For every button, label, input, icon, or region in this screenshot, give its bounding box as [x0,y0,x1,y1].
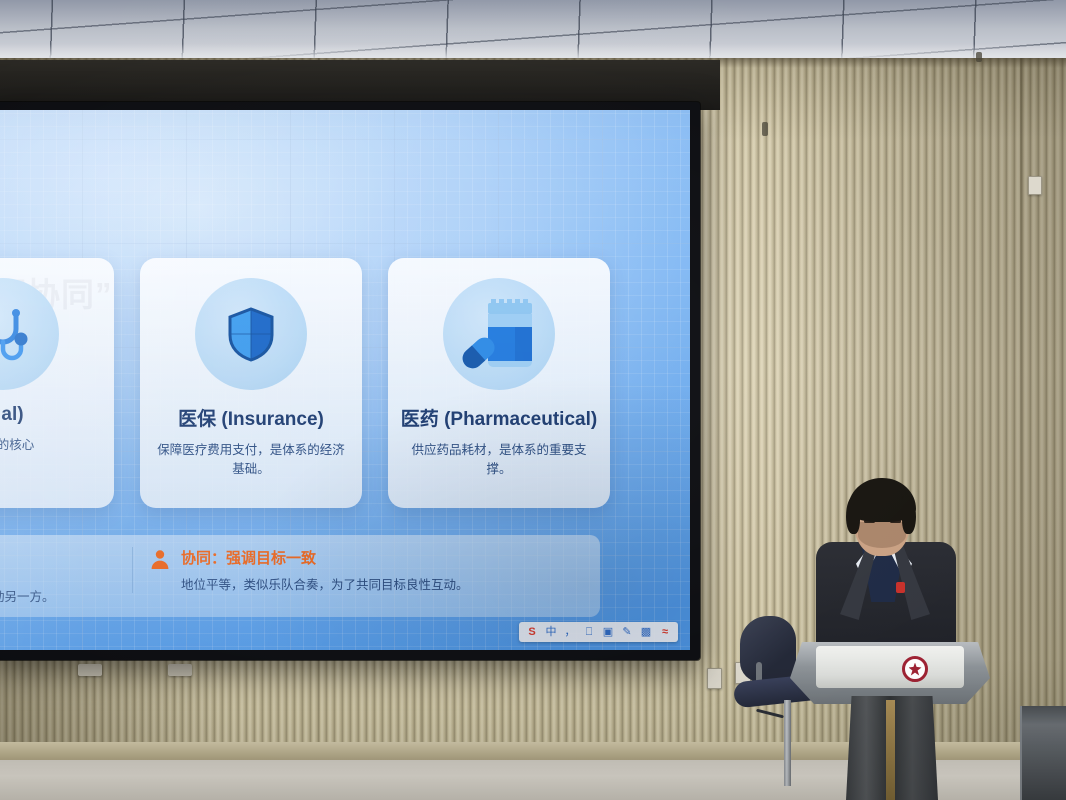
wall-outlet[interactable] [1028,176,1042,195]
punctuation-icon[interactable]: ， [564,627,576,638]
speaker-mount [168,664,192,676]
lectern-front-panel [816,646,964,688]
callout-left: 合 轮传动，一方动带动另一方。 [0,549,112,605]
card-title: …al) [0,404,24,426]
card-title: 医保 (Insurance) [178,404,324,431]
chinese-mode-icon[interactable]: 中 [545,627,557,638]
cable-clip [976,52,982,62]
callout-right-subtext: 地位平等，类似乐队合奏，为了共同目标良性互动。 [181,574,469,593]
card-description: 供应药品耗材，是体系的重要支撑。 [388,441,610,480]
card-description: 保障医疗费用支付，是体系的经济基础。 [140,441,362,480]
card-medical-service[interactable]: …al) …系的核心 [0,258,114,508]
speaker-mount [78,664,102,676]
institution-emblem [902,656,928,682]
pill-bottle-icon [443,278,555,390]
cable-clip [762,122,768,136]
card-pharmaceutical[interactable]: 医药 (Pharmaceutical) 供应药品耗材，是体系的重要支撑。 [388,258,610,508]
skin-icon[interactable]: ✎ [621,627,633,638]
sogou-ime-toolbar[interactable]: S 中 ， ⎕ ▣ ✎ ▩ ≈ [519,622,678,642]
callout-left-subtext: 轮传动，一方动带动另一方。 [0,586,55,605]
screenshot-icon[interactable]: ▣ [602,627,614,638]
shield-icon [195,278,307,390]
sogou-logo-icon[interactable]: S [526,627,538,638]
wall-outlet[interactable] [707,668,722,689]
lectern [790,642,990,800]
chair-backrest [740,616,796,682]
callout-right: 协同：强调目标一致 地位平等，类似乐队合奏，为了共同目标良性互动。 [132,547,529,593]
card-description: …系的核心 [0,436,50,455]
chair-height-lever[interactable] [756,709,784,719]
card-insurance[interactable]: 医保 (Insurance) 保障医疗费用支付，是体系的经济基础。 [140,258,362,508]
person-icon [149,548,171,570]
card-title: 医药 (Pharmaceutical) [401,404,597,431]
emblem-inner-mark [909,663,922,676]
presenter-face-shadow [858,522,906,548]
more-icon[interactable]: ≈ [659,627,671,638]
projection-screen-display[interactable]: 动”到“三医协同” …al) [0,110,690,650]
projection-screen-frame: 动”到“三医协同” …al) [0,102,700,660]
lectern-accent-stripe [886,700,895,800]
voice-input-icon[interactable]: ⎕ [583,627,595,638]
slide-callout-panel: 合 轮传动，一方动带动另一方。 协同：强调目标一致 地位平等，类似乐队 [0,535,600,617]
presentation-slide[interactable]: 动”到“三医协同” …al) [0,110,690,650]
presenter-hair-side-left [846,496,860,534]
presenter-hair-side-right [902,496,916,534]
conference-room-scene: 动”到“三医协同” …al) [0,0,1066,800]
slide-card-row: …al) …系的核心 [0,258,632,508]
toolbox-icon[interactable]: ▩ [640,627,652,638]
ceiling [0,0,1066,64]
callout-right-heading: 协同：强调目标一致 [181,547,469,568]
side-cabinet [1020,706,1066,800]
lapel-pin [896,582,905,593]
presenter-and-podium [790,470,1020,800]
stethoscope-icon [0,278,59,390]
